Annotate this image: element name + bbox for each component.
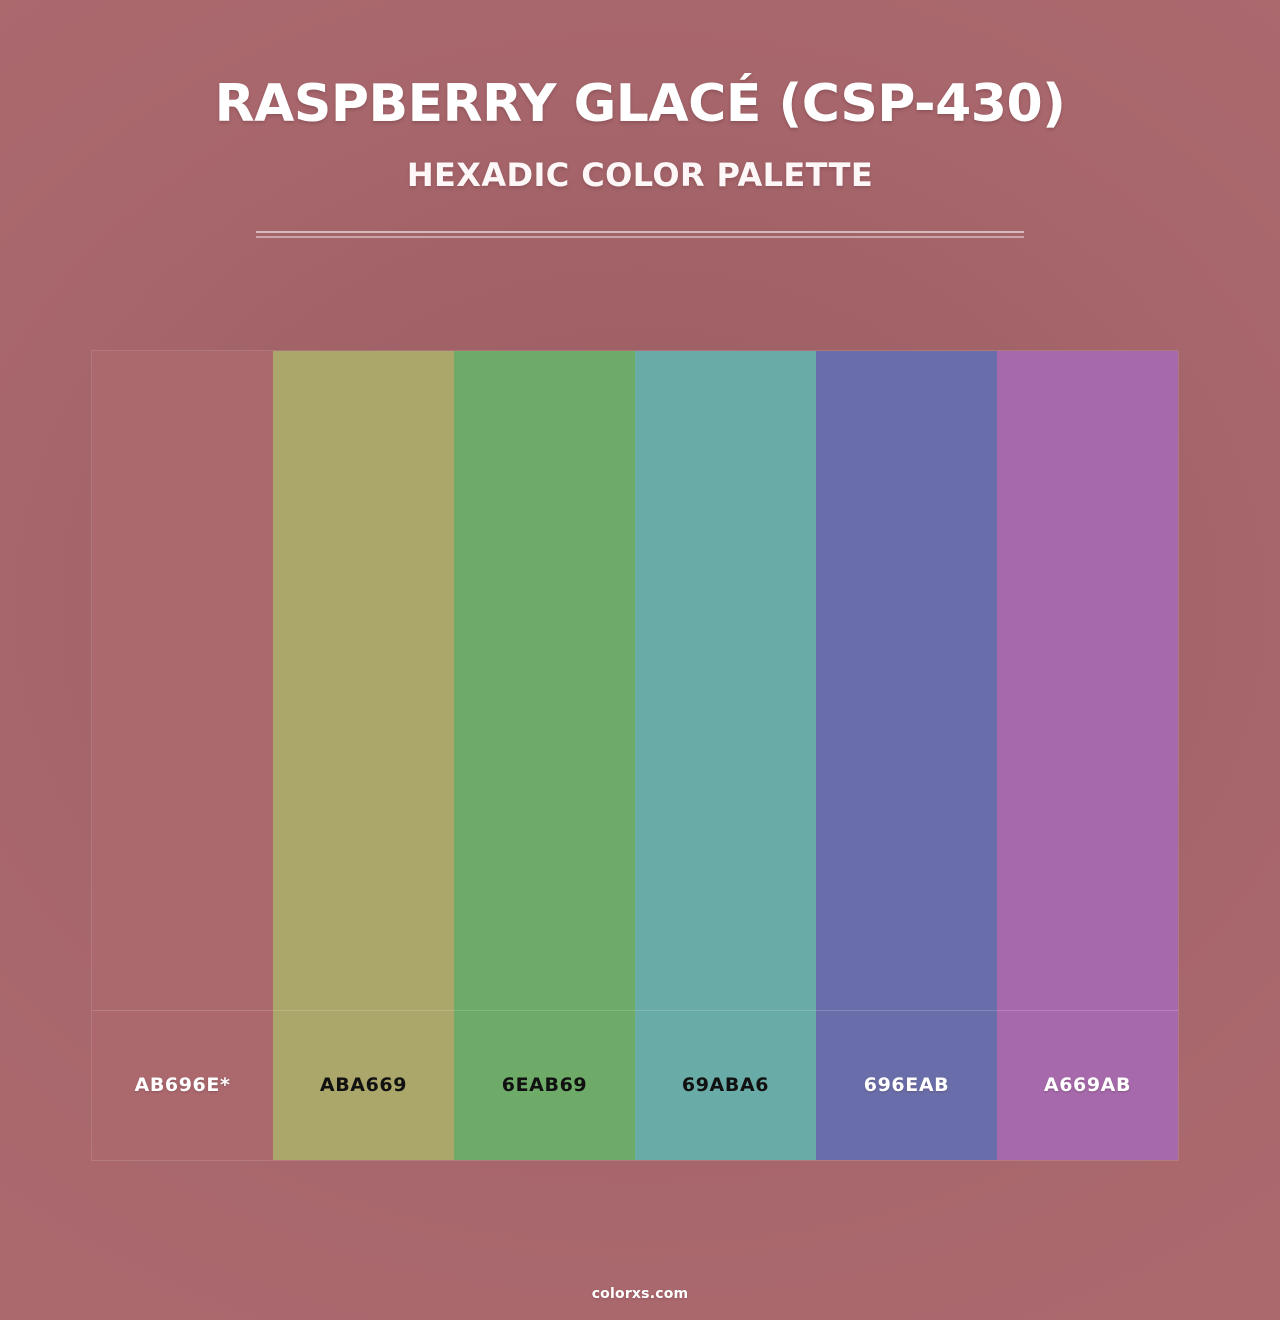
swatch-column[interactable]: 6EAB69 <box>454 351 635 1160</box>
swatch-color-block[interactable] <box>454 351 635 1010</box>
footer-site-label: colorxs.com <box>592 1286 689 1302</box>
swatch-hex-label: 6EAB69 <box>502 1074 587 1096</box>
swatch-column[interactable]: ABA669 <box>273 351 454 1160</box>
divider-line-bottom <box>256 236 1024 238</box>
swatch-label-cell[interactable]: 696EAB <box>816 1010 997 1160</box>
color-palette-card: AB696E*ABA6696EAB6969ABA6696EABA669AB <box>92 351 1178 1160</box>
swatch-hex-label: AB696E* <box>135 1074 231 1096</box>
page-title: RASPBERRY GLACÉ (CSP-430) <box>0 0 1280 134</box>
swatch-column[interactable]: AB696E* <box>92 351 273 1160</box>
swatch-hex-label: ABA669 <box>320 1074 407 1096</box>
swatch-column[interactable]: A669AB <box>997 351 1178 1160</box>
page-subtitle: HEXADIC COLOR PALETTE <box>0 134 1280 194</box>
swatch-column[interactable]: 696EAB <box>816 351 997 1160</box>
swatch-color-block[interactable] <box>635 351 816 1010</box>
swatch-label-cell[interactable]: ABA669 <box>273 1010 454 1160</box>
swatch-color-block[interactable] <box>273 351 454 1010</box>
header-divider <box>256 231 1024 238</box>
palette-page: RASPBERRY GLACÉ (CSP-430) HEXADIC COLOR … <box>0 0 1280 1320</box>
swatch-hex-label: A669AB <box>1044 1074 1131 1096</box>
swatch-hex-label: 696EAB <box>864 1074 949 1096</box>
swatch-label-cell[interactable]: 6EAB69 <box>454 1010 635 1160</box>
swatch-label-cell[interactable]: AB696E* <box>92 1010 273 1160</box>
swatch-column[interactable]: 69ABA6 <box>635 351 816 1160</box>
swatch-hex-label: 69ABA6 <box>682 1074 769 1096</box>
swatch-color-block[interactable] <box>816 351 997 1010</box>
page-footer: colorxs.com <box>0 1283 1280 1302</box>
swatch-color-block[interactable] <box>92 351 273 1010</box>
swatch-color-block[interactable] <box>997 351 1178 1010</box>
divider-line-top <box>256 231 1024 233</box>
swatch-label-cell[interactable]: 69ABA6 <box>635 1010 816 1160</box>
page-header: RASPBERRY GLACÉ (CSP-430) HEXADIC COLOR … <box>0 0 1280 194</box>
swatch-label-cell[interactable]: A669AB <box>997 1010 1178 1160</box>
